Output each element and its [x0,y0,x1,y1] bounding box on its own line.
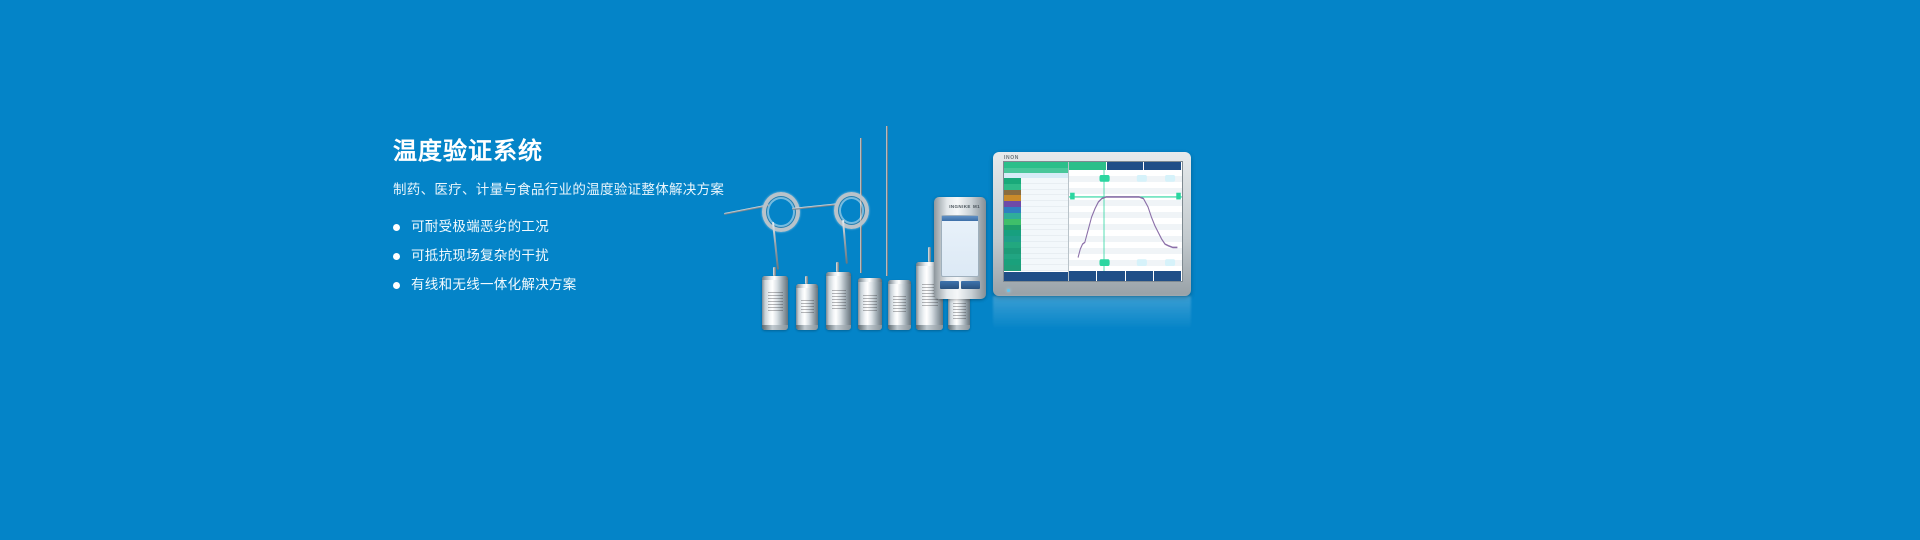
logger-label [768,292,783,310]
power-led-icon [1007,289,1010,292]
coiled-probe-icon [762,192,800,232]
channel-table-panel [1004,162,1069,281]
handheld-model-label: M1 [973,204,980,209]
stop-capture-button[interactable] [1097,271,1125,281]
start-capture-button[interactable] [1069,271,1097,281]
hero-banner: 温度验证系统 制药、医疗、计量与食品行业的温度验证整体解决方案 可耐受极端恶劣的… [0,0,1920,540]
probe-needle-long [886,126,888,276]
bullet-dot-icon [393,282,400,289]
temperature-curve [1078,197,1177,258]
data-logger [762,276,788,330]
axis-marker [1070,193,1075,200]
chart-tag [1137,175,1147,182]
probe-wire [792,203,840,210]
coiled-probe-icon [834,192,869,229]
logger-label [953,303,966,319]
tab-realtime-curve[interactable] [1069,162,1107,170]
logger-connector [928,247,931,262]
logger-connector [836,262,839,272]
tab-settings[interactable] [1144,162,1182,170]
channel-color-swatches [1004,178,1021,271]
handheld-row [946,242,974,246]
chart-tag [1165,259,1175,266]
handheld-reader[interactable]: INGNIKE M1 [934,197,986,299]
export-button[interactable] [1126,271,1154,281]
logger-label [801,298,814,314]
bullet-dot-icon [393,253,400,260]
table-values-column [1021,178,1068,271]
handheld-titlebar [942,216,978,221]
data-logger [796,284,818,330]
print-button[interactable] [1154,271,1182,281]
chart-footer-buttons[interactable] [1069,271,1182,281]
handheld-row [946,254,974,258]
temperature-chart [1069,170,1182,271]
logger-label [832,289,847,309]
feature-label: 可耐受极端恶劣的工况 [411,219,549,235]
logger-label [893,295,906,312]
handheld-confirm-button[interactable] [940,281,959,289]
chart-panel [1069,162,1182,281]
feature-label: 有线和无线一体化解决方案 [411,277,577,293]
table-footer-bar [1004,272,1068,281]
axis-marker [1176,193,1181,200]
data-logger [858,278,882,330]
cursor-label [1100,175,1110,182]
tab-report[interactable] [1107,162,1145,170]
handheld-back-button[interactable] [961,281,980,289]
chart-tabs[interactable] [1069,162,1182,170]
logger-label [863,294,877,312]
chart-svg [1069,170,1182,271]
feature-label: 可抵抗现场复杂的干扰 [411,248,549,264]
handheld-row [946,266,974,270]
data-logger [826,272,851,330]
logger-connector [773,267,776,276]
handheld-screen [941,215,979,277]
bullet-dot-icon [393,224,400,231]
cursor-label [1100,259,1110,266]
handheld-buttons[interactable] [940,281,980,289]
data-logger [888,280,911,330]
validation-software-monitor: INON [993,152,1191,296]
chart-tag [1137,259,1147,266]
software-screen [1003,161,1183,282]
logger-connector [805,276,808,284]
chart-tag [1165,175,1175,182]
monitor-reflection [993,296,1191,330]
table-rows [1004,178,1068,271]
